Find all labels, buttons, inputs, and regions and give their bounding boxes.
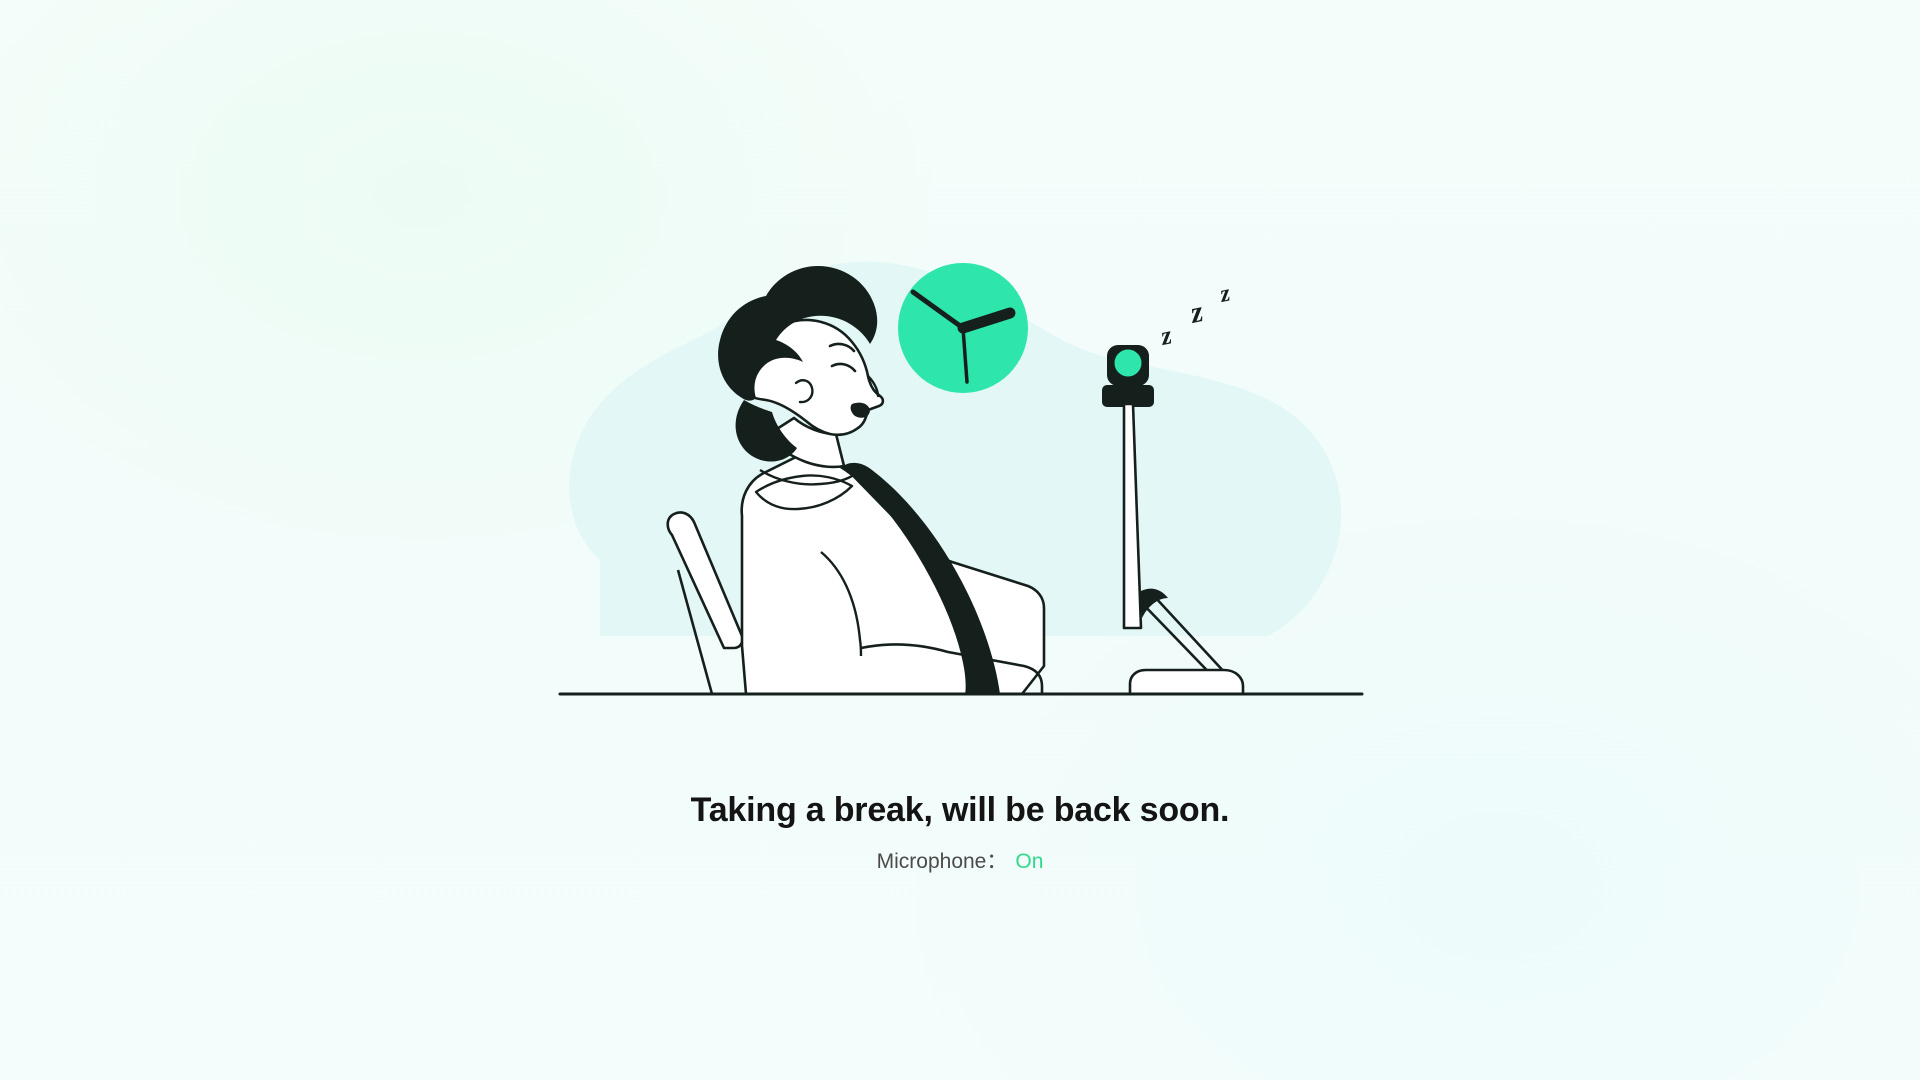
- illustration-container: z z z: [0, 0, 1920, 760]
- sleep-zzz: z z z: [1157, 280, 1233, 351]
- zzz-letter-medium: z: [1187, 295, 1207, 330]
- zzz-letter-small: z: [1157, 320, 1175, 351]
- away-screen: z z z: [0, 0, 1920, 1080]
- caption-block: Taking a break, will be back soon. Micro…: [0, 790, 1920, 874]
- zzz-letter-large: z: [1217, 280, 1233, 308]
- page-title: Taking a break, will be back soon.: [0, 790, 1920, 831]
- microphone-status-row: Microphone ： On: [0, 849, 1920, 874]
- status-separator: ：: [986, 849, 1007, 874]
- microphone-status-value: On: [1015, 849, 1043, 874]
- break-illustration: z z z: [0, 0, 1920, 760]
- microphone-status-label: Microphone: [877, 849, 987, 874]
- clock-icon: [898, 263, 1028, 393]
- webcam-icon: [1102, 345, 1154, 407]
